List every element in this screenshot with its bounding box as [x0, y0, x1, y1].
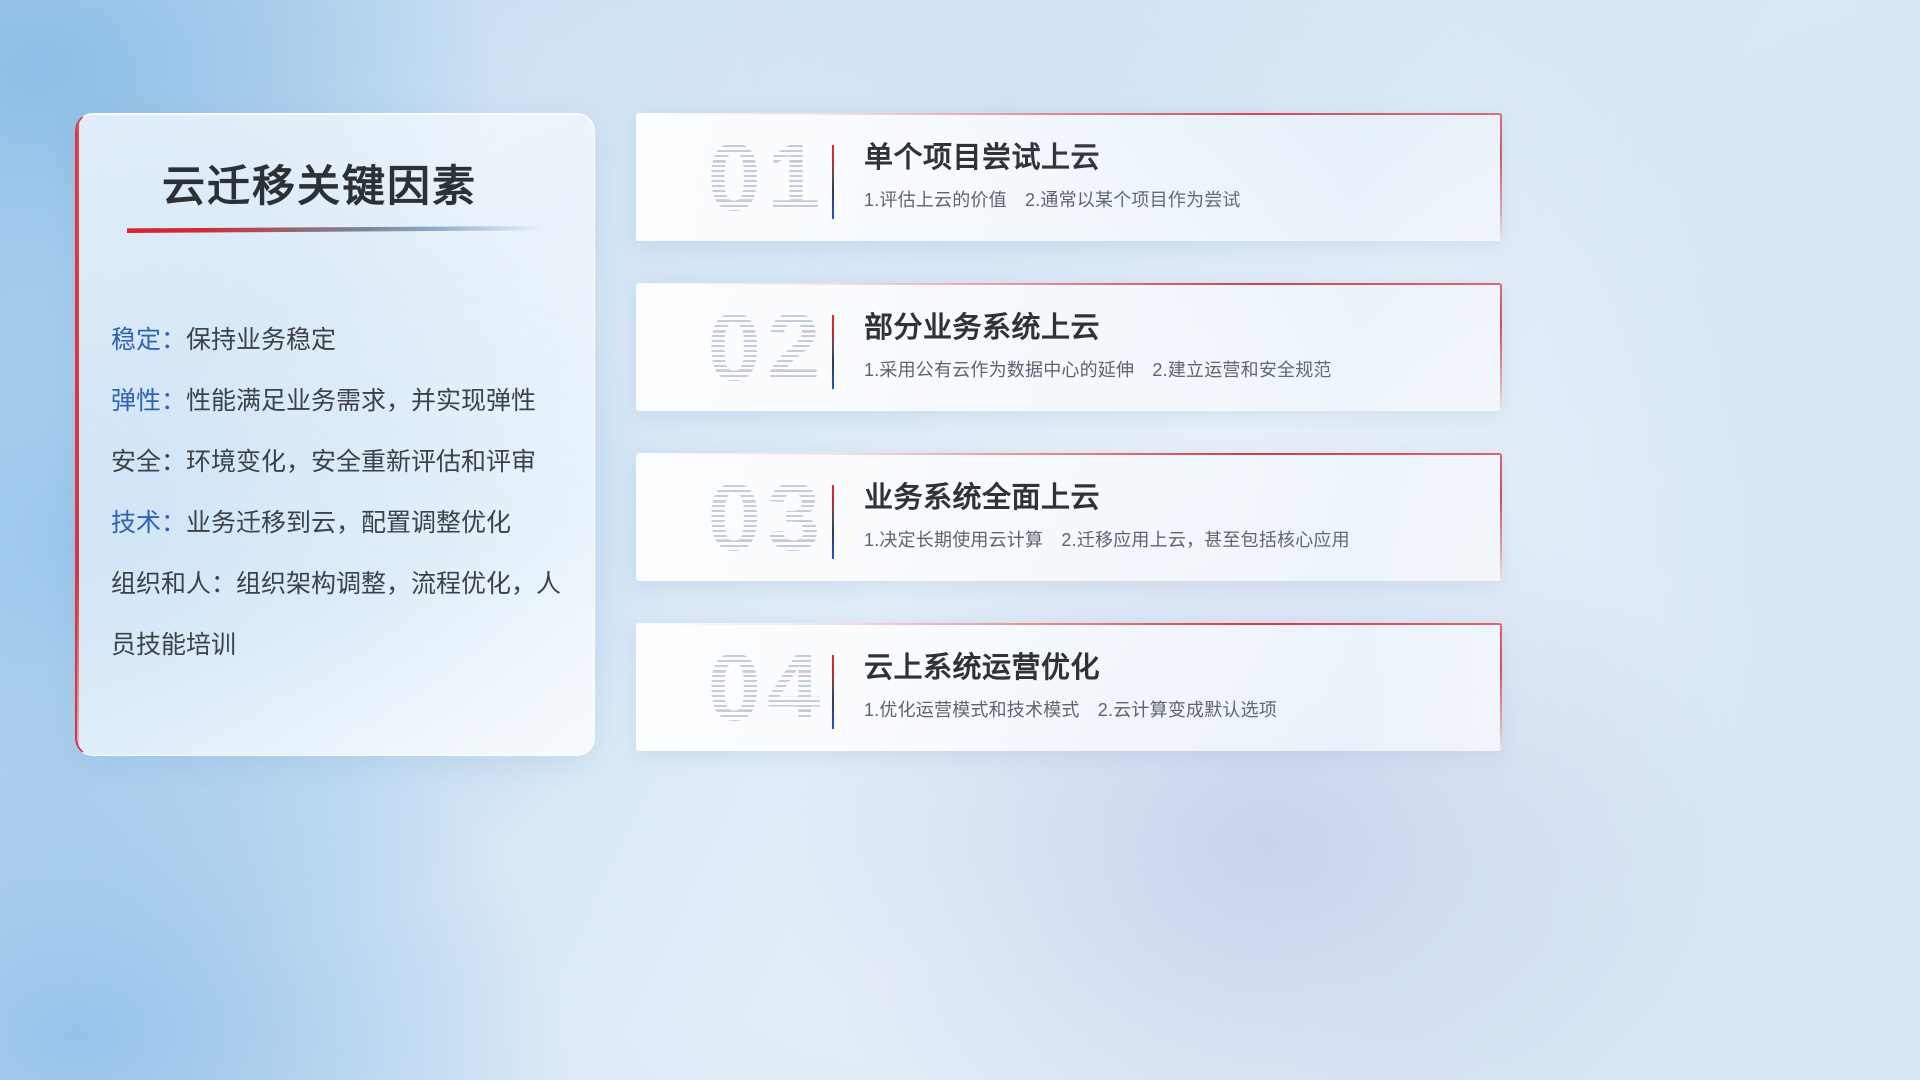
stage-card-title: 云上系统运营优化 — [864, 648, 1478, 688]
stage-card-title: 单个项目尝试上云 — [864, 138, 1478, 178]
stage-number-04: 04 — [664, 635, 870, 741]
factor-label: 安全： — [111, 448, 186, 476]
factor-item-stability: 稳定：保持业务稳定 — [111, 310, 581, 371]
factor-text: 业务迁移到云，配置调整优化 — [186, 509, 511, 537]
factor-text: 保持业务稳定 — [186, 326, 336, 354]
stage-card-04[interactable]: 04 云上系统运营优化 1.优化运营模式和技术模式 2.云计算变成默认选项 — [636, 623, 1502, 751]
factor-item-technology: 技术：业务迁移到云，配置调整优化 — [111, 493, 581, 554]
stage-card-description: 1.采用公有云作为数据中心的延伸 2.建立运营和安全规范 — [864, 357, 1478, 383]
title-underline-decoration — [127, 226, 539, 233]
stage-number-02: 02 — [664, 295, 870, 401]
factor-label: 技术： — [111, 509, 186, 537]
stage-card-list: 01 单个项目尝试上云 1.评估上云的价值 2.通常以某个项目作为尝试 02 部… — [636, 113, 1502, 793]
slide-canvas: 云迁移关键因素 稳定：保持业务稳定 弹性：性能满足业务需求，并实现弹性 安全：环… — [0, 0, 1920, 1080]
stage-card-title: 部分业务系统上云 — [864, 308, 1478, 348]
factor-item-organization: 组织和人：组织架构调整，流程优化，人员技能培训 — [111, 554, 581, 676]
factor-item-security: 安全：环境变化，安全重新评估和评审 — [111, 432, 581, 493]
stage-card-01[interactable]: 01 单个项目尝试上云 1.评估上云的价值 2.通常以某个项目作为尝试 — [636, 113, 1502, 241]
factor-label: 稳定： — [111, 326, 186, 354]
stage-card-description: 1.评估上云的价值 2.通常以某个项目作为尝试 — [864, 187, 1478, 213]
accent-bar — [832, 485, 834, 559]
factor-item-elasticity: 弹性：性能满足业务需求，并实现弹性 — [111, 371, 581, 432]
stage-card-02[interactable]: 02 部分业务系统上云 1.采用公有云作为数据中心的延伸 2.建立运营和安全规范 — [636, 283, 1502, 411]
stage-card-body: 单个项目尝试上云 1.评估上云的价值 2.通常以某个项目作为尝试 — [864, 138, 1478, 213]
stage-card-body: 业务系统全面上云 1.决定长期使用云计算 2.迁移应用上云，甚至包括核心应用 — [864, 478, 1478, 553]
accent-bar — [832, 655, 834, 729]
stage-card-description: 1.决定长期使用云计算 2.迁移应用上云，甚至包括核心应用 — [864, 527, 1478, 553]
stage-card-description: 1.优化运营模式和技术模式 2.云计算变成默认选项 — [864, 697, 1478, 723]
accent-bar — [832, 145, 834, 219]
page-title: 云迁移关键因素 — [162, 152, 477, 214]
accent-bar — [832, 315, 834, 389]
stage-card-title: 业务系统全面上云 — [864, 478, 1478, 518]
factor-label: 弹性： — [111, 387, 186, 415]
factor-list: 稳定：保持业务稳定 弹性：性能满足业务需求，并实现弹性 安全：环境变化，安全重新… — [111, 310, 581, 676]
factor-text: 性能满足业务需求，并实现弹性 — [186, 387, 536, 415]
key-factors-panel: 云迁移关键因素 稳定：保持业务稳定 弹性：性能满足业务需求，并实现弹性 安全：环… — [75, 113, 595, 756]
factor-text: 环境变化，安全重新评估和评审 — [186, 448, 536, 476]
stage-number-03: 03 — [664, 465, 870, 571]
stage-card-03[interactable]: 03 业务系统全面上云 1.决定长期使用云计算 2.迁移应用上云，甚至包括核心应… — [636, 453, 1502, 581]
stage-number-01: 01 — [664, 125, 870, 231]
stage-card-body: 部分业务系统上云 1.采用公有云作为数据中心的延伸 2.建立运营和安全规范 — [864, 308, 1478, 383]
factor-label: 组织和人： — [111, 570, 236, 598]
stage-card-body: 云上系统运营优化 1.优化运营模式和技术模式 2.云计算变成默认选项 — [864, 648, 1478, 723]
